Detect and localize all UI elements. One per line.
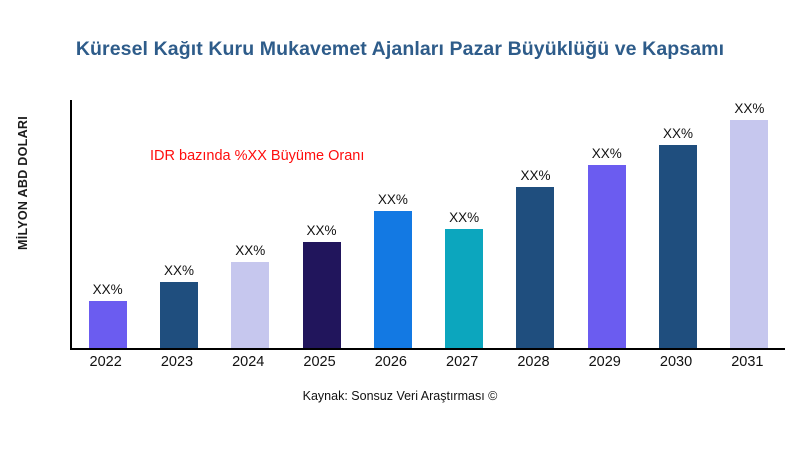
y-axis-label-text: MİLYON ABD DOLARI (16, 115, 30, 249)
x-tick-2027: 2027 (427, 354, 498, 370)
bar-value-label: XX% (307, 224, 337, 238)
bar-value-label: XX% (592, 147, 622, 161)
x-tick-2026: 2026 (355, 354, 426, 370)
bar-value-label: XX% (449, 211, 479, 225)
bar-2022[interactable] (89, 301, 127, 348)
bar-value-label: XX% (520, 169, 550, 183)
x-tick-2029: 2029 (569, 354, 640, 370)
bar-group-2028: XX% (500, 169, 571, 349)
bar-2029[interactable] (588, 165, 626, 348)
bar-value-label: XX% (93, 283, 123, 297)
bar-2028[interactable] (516, 187, 554, 348)
bar-value-label: XX% (378, 193, 408, 207)
y-axis-label: MİLYON ABD DOLARI (12, 55, 34, 310)
bar-value-label: XX% (235, 244, 265, 258)
plot-area: IDR bazında %XX Büyüme Oranı XX%XX%XX%XX… (70, 100, 785, 350)
bar-series: XX%XX%XX%XX%XX%XX%XX%XX%XX%XX% (72, 100, 785, 348)
bar-group-2030: XX% (642, 127, 713, 349)
bar-group-2023: XX% (143, 264, 214, 349)
source-caption: Kaynak: Sonsuz Veri Araştırması © (0, 389, 800, 403)
bar-group-2025: XX% (286, 224, 357, 349)
x-tick-2028: 2028 (498, 354, 569, 370)
bar-group-2027: XX% (429, 211, 500, 349)
x-axis-tick-labels: 2022202320242025202620272028202920302031 (70, 354, 785, 380)
x-tick-2025: 2025 (284, 354, 355, 370)
bar-2025[interactable] (303, 242, 341, 348)
x-tick-2030: 2030 (640, 354, 711, 370)
bar-value-label: XX% (663, 127, 693, 141)
bar-chart: Küresel Kağıt Kuru Mukavemet Ajanları Pa… (0, 0, 800, 450)
bar-2030[interactable] (659, 145, 697, 348)
x-axis-line (70, 348, 785, 350)
bar-group-2031: XX% (714, 102, 785, 349)
bar-group-2029: XX% (571, 147, 642, 349)
chart-title: Küresel Kağıt Kuru Mukavemet Ajanları Pa… (0, 38, 800, 61)
bar-2027[interactable] (445, 229, 483, 348)
bar-value-label: XX% (164, 264, 194, 278)
x-tick-2024: 2024 (213, 354, 284, 370)
bar-value-label: XX% (734, 102, 764, 116)
bar-group-2024: XX% (215, 244, 286, 349)
bar-2023[interactable] (160, 282, 198, 348)
bar-group-2026: XX% (357, 193, 428, 349)
x-tick-2022: 2022 (70, 354, 141, 370)
bar-2031[interactable] (730, 120, 768, 348)
x-tick-2031: 2031 (712, 354, 783, 370)
x-tick-2023: 2023 (141, 354, 212, 370)
bar-group-2022: XX% (72, 283, 143, 349)
bar-2026[interactable] (374, 211, 412, 348)
bar-2024[interactable] (231, 262, 269, 348)
